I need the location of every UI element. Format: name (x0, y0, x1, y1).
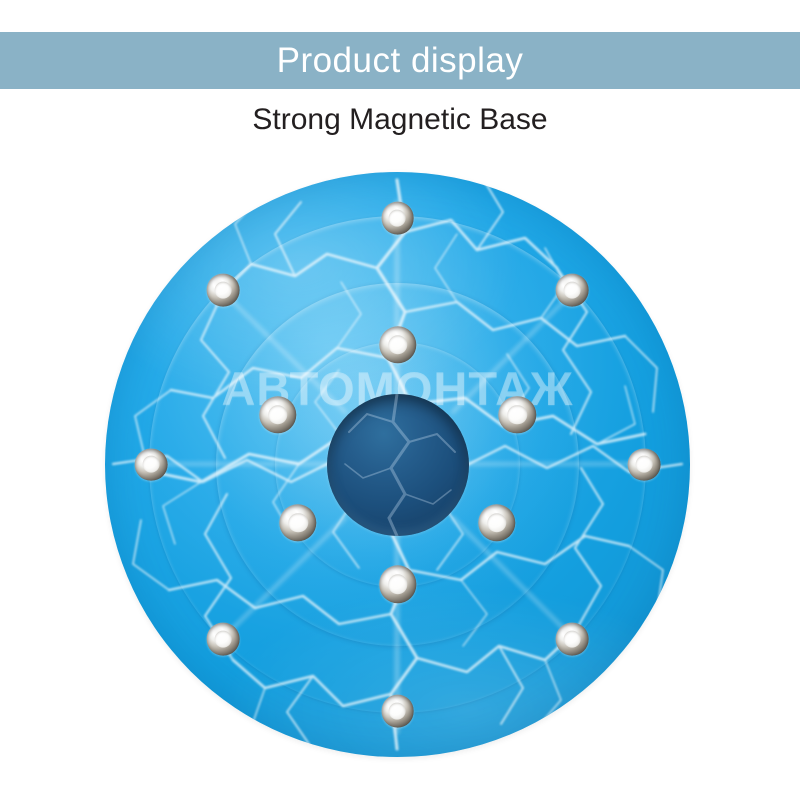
hole-outer-s (381, 694, 414, 727)
center-bore-texture (327, 394, 469, 536)
hole-bore (563, 282, 580, 299)
hole-bore (143, 456, 160, 473)
hole-inner-sw (279, 504, 316, 541)
product-display-page: Product display Strong Magnetic Base (0, 0, 800, 800)
hole-inner-n (379, 326, 416, 363)
hole-bore (388, 575, 407, 594)
center-bore-hole (327, 394, 469, 536)
hole-outer-se (555, 622, 588, 655)
hole-outer-n (381, 202, 414, 235)
product-image-stage: АВТОМОНТАЖ (0, 160, 800, 800)
disc-body: АВТОМОНТАЖ (105, 172, 690, 757)
hole-bore (389, 210, 406, 227)
hole-inner-s (379, 566, 416, 603)
page-header-banner: Product display (0, 32, 800, 89)
hole-bore (487, 513, 506, 532)
hole-bore (288, 513, 307, 532)
hole-bore (389, 702, 406, 719)
hole-inner-e (499, 396, 536, 433)
hole-bore (635, 456, 652, 473)
hole-outer-ne (555, 274, 588, 307)
hole-outer-nw (207, 274, 240, 307)
hole-outer-w (135, 448, 168, 481)
page-title: Product display (277, 43, 524, 78)
product-subtitle: Strong Magnetic Base (0, 103, 800, 136)
hole-bore (388, 335, 407, 354)
hole-inner-w (259, 396, 296, 433)
magnetic-base-disc: АВТОМОНТАЖ (105, 172, 690, 757)
hole-bore (563, 630, 580, 647)
hole-inner-se (478, 504, 515, 541)
hole-bore (508, 405, 527, 424)
hole-bore (268, 405, 287, 424)
hole-outer-sw (207, 622, 240, 655)
hole-bore (215, 630, 232, 647)
hole-outer-e (627, 448, 660, 481)
hole-bore (215, 282, 232, 299)
